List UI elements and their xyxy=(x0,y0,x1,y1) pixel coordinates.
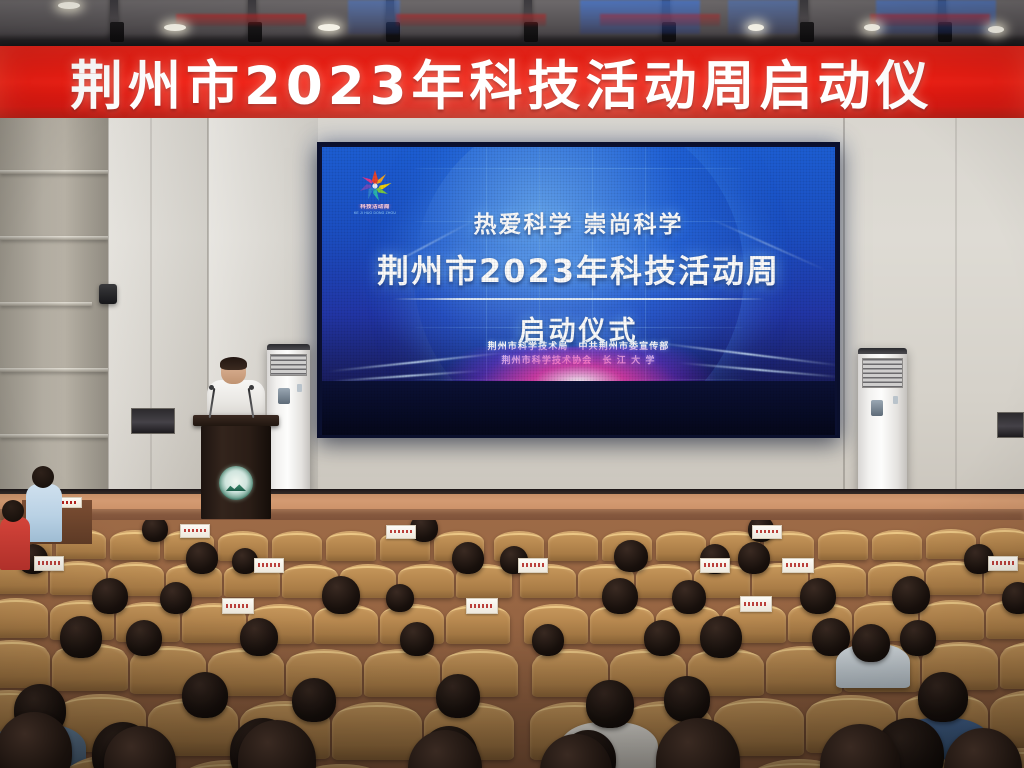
university-emblem-icon xyxy=(219,466,253,500)
ceiling-downlight xyxy=(164,24,186,31)
ac-badge xyxy=(871,400,883,416)
seat-placard xyxy=(466,598,498,614)
attendee-body xyxy=(26,484,62,542)
seat-placard xyxy=(386,525,416,539)
seat-placard xyxy=(740,596,772,612)
attendee-head xyxy=(918,672,968,722)
wall-vent-panel-right xyxy=(997,412,1024,438)
seat-placard xyxy=(988,556,1018,571)
seat-placard xyxy=(34,556,64,571)
attendee-head xyxy=(240,618,278,656)
attendee-head xyxy=(700,616,742,658)
attendee-head xyxy=(292,678,336,722)
ac-grille-icon xyxy=(270,354,306,376)
led-screen[interactable]: 科技活动周 KE JI HUO DONG ZHOU 热爱科学 崇尚科学 荆州市2… xyxy=(317,142,840,438)
ac-grille-icon xyxy=(862,358,903,388)
attendee-head xyxy=(92,578,128,614)
attendee-head xyxy=(738,542,770,574)
attendee-body xyxy=(0,517,30,570)
attendee-head xyxy=(60,616,102,658)
screen-title: 荆州市2023年科技活动周 xyxy=(322,246,835,292)
ceiling-downlight xyxy=(864,24,880,31)
attendee-head xyxy=(400,622,434,656)
ceiling-downlight xyxy=(988,26,1004,33)
microphone-left-head xyxy=(209,385,214,390)
screen-dark-base xyxy=(322,381,835,435)
attendee-head xyxy=(532,624,564,656)
attendee-head xyxy=(436,674,480,718)
ceiling-downlight xyxy=(318,24,340,31)
attendee-head xyxy=(182,672,228,718)
ceiling-downlight xyxy=(748,24,764,31)
attendee-head xyxy=(32,466,54,488)
led-screen-content: 科技活动周 KE JI HUO DONG ZHOU 热爱科学 崇尚科学 荆州市2… xyxy=(322,147,835,435)
attendee-head xyxy=(322,576,360,614)
attendee-head xyxy=(160,582,192,614)
screen-bottom-glow xyxy=(322,347,835,383)
attendee-head xyxy=(186,542,218,574)
attendee-head xyxy=(672,580,706,614)
seat-placard xyxy=(222,598,254,614)
attendee-head xyxy=(644,620,680,656)
attendee-head xyxy=(800,578,836,614)
attendee-head xyxy=(1002,582,1024,614)
seat-placard xyxy=(518,558,548,573)
seat-placard xyxy=(752,525,782,539)
hall-banner-text: 荆州市2023年科技活动周启动仪 xyxy=(70,46,934,118)
audience-seating xyxy=(0,520,1024,768)
seat-placard xyxy=(254,558,284,573)
wall-speaker xyxy=(99,284,117,304)
presenter xyxy=(207,358,265,420)
ceiling xyxy=(0,0,1024,46)
wall-vent-panel xyxy=(131,408,175,434)
seat-placard xyxy=(782,558,814,573)
attendee-head xyxy=(892,576,930,614)
podium-top-surface xyxy=(193,415,279,426)
screen-slogan: 热爱科学 崇尚科学 xyxy=(322,205,835,239)
podium xyxy=(197,415,275,519)
presenter-hair xyxy=(220,357,247,370)
attendee-head xyxy=(142,520,168,542)
attendee-head xyxy=(2,500,24,522)
screen-title-block: 热爱科学 崇尚科学 荆州市2023年科技活动周 启动仪式 xyxy=(322,205,835,348)
attendee-head xyxy=(452,542,484,574)
attendee-head xyxy=(386,584,414,612)
left-ribbed-wall xyxy=(0,118,108,518)
ac-badge xyxy=(278,388,290,404)
attendee-in-blue xyxy=(26,466,62,542)
presenter-body xyxy=(207,380,265,420)
ceiling-downlight xyxy=(58,2,80,9)
ac-indicator xyxy=(893,396,898,404)
attendee-head xyxy=(586,680,634,728)
seat-placard xyxy=(180,524,210,538)
attendee-head xyxy=(900,620,936,656)
stage-edge-trim xyxy=(0,489,1024,494)
ac-top-trim xyxy=(858,348,907,354)
hall-banner: 荆州市2023年科技活动周启动仪 xyxy=(0,46,1024,118)
screen-divider-rule xyxy=(393,298,765,300)
microphone-right-head xyxy=(249,385,254,390)
podium-body xyxy=(201,426,271,519)
attendee-head xyxy=(852,624,890,662)
attendee-head xyxy=(126,620,162,656)
attendee-head xyxy=(602,578,638,614)
starburst-logo-icon xyxy=(351,168,399,204)
air-conditioner-right xyxy=(858,348,907,500)
attendee-in-red xyxy=(0,500,30,570)
auditorium-photo: 荆州市2023年科技活动周启动仪 xyxy=(0,0,1024,768)
ac-indicator xyxy=(297,384,302,392)
seat-placard xyxy=(700,558,730,573)
ac-top-trim xyxy=(267,344,310,350)
attendee-head xyxy=(664,676,710,722)
attendee-head xyxy=(614,540,648,572)
